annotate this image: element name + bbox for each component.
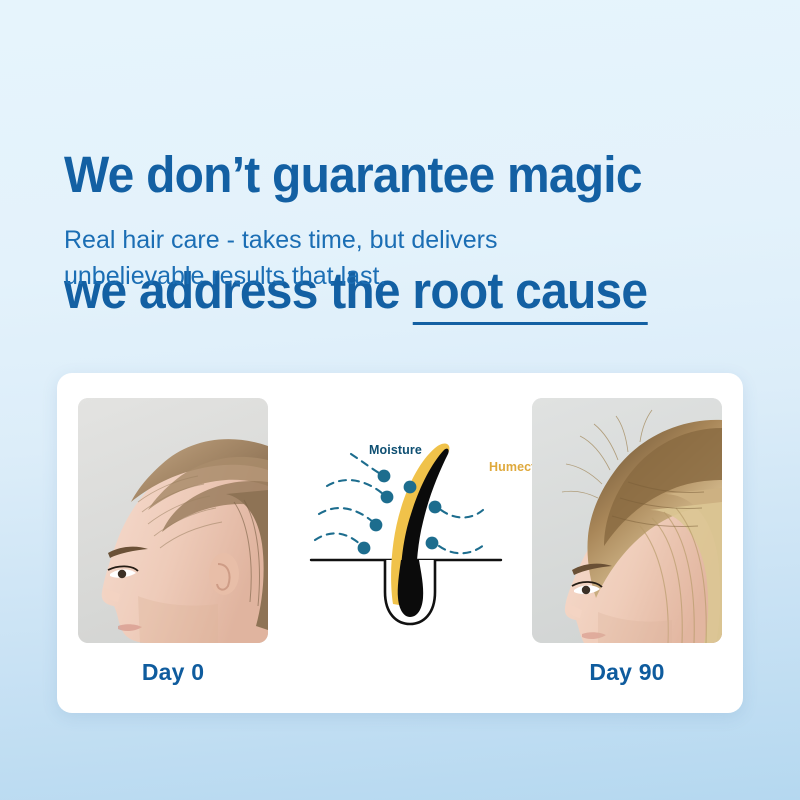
headline-line-1: We don’t guarantee magic [64,146,731,204]
diagram-label-moisture: Moisture [369,443,422,457]
before-after-card: Day 0 [57,373,743,713]
hair-follicle-hydration-diagram: Moisture Humectants [289,428,531,628]
subheading-line-1: Real hair care - takes time, but deliver… [64,222,684,258]
after-caption: Day 90 [532,659,722,686]
before-panel: Day 0 [78,398,268,686]
promo-poster: We don’t guarantee magic we address the … [0,0,800,800]
subheading: Real hair care - takes time, but deliver… [64,222,684,294]
after-panel: Day 90 [532,398,722,686]
before-caption: Day 0 [78,659,268,686]
subheading-line-2: unbelievable results that last. [64,258,684,294]
before-photo [78,398,268,643]
after-photo [532,398,722,643]
